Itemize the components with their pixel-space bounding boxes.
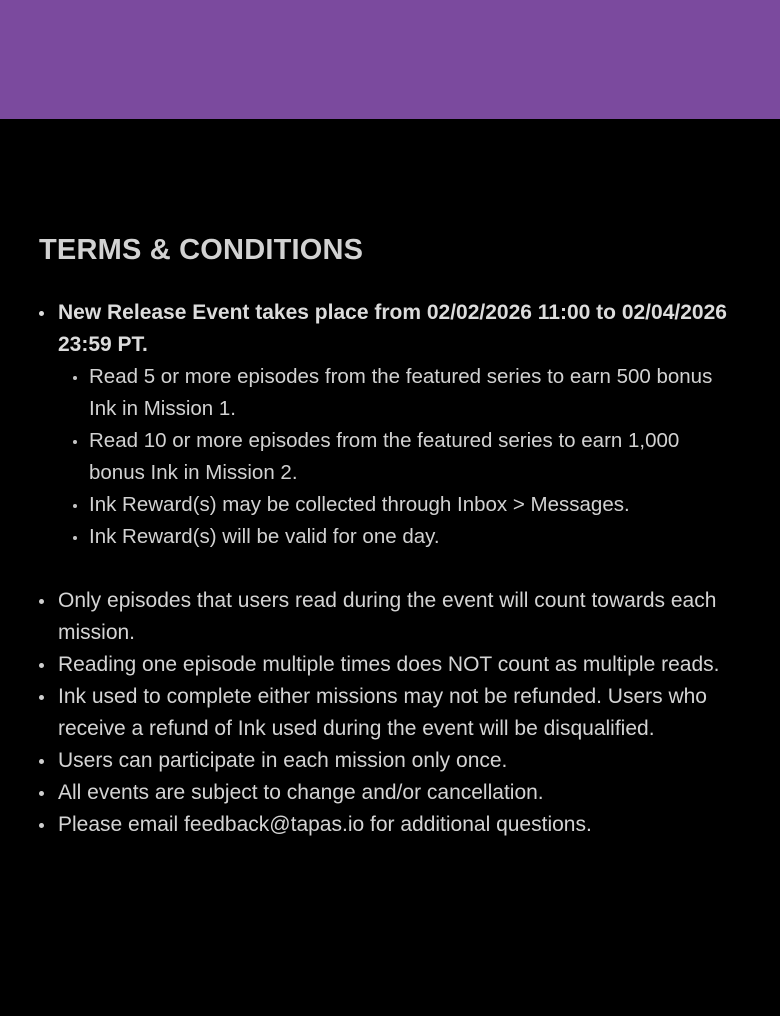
bullet-text: Users can participate in each mission on… [58,745,732,777]
bullet-dot-icon [39,791,44,796]
terms-bullet: New Release Event takes place from 02/02… [0,297,780,361]
terms-sub-bullet: Ink Reward(s) may be collected through I… [0,489,780,521]
terms-sub-bullet: Read 10 or more episodes from the featur… [0,425,780,489]
terms-bullet: Ink used to complete either missions may… [0,681,780,745]
bullet-text: Reading one episode multiple times does … [58,649,732,681]
bullet-text: Only episodes that users read during the… [58,585,732,649]
bullet-dot-icon [39,599,44,604]
bullet-dot-icon [39,759,44,764]
terms-sub-bullet: Ink Reward(s) will be valid for one day. [0,521,780,553]
bullet-text: New Release Event takes place from 02/02… [58,297,732,361]
bullet-text: Read 10 or more episodes from the featur… [89,425,740,489]
terms-bullet: All events are subject to change and/or … [0,777,780,809]
bullet-text: Ink Reward(s) will be valid for one day. [89,521,740,553]
terms-bullet: Reading one episode multiple times does … [0,649,780,681]
terms-list: New Release Event takes place from 02/02… [0,297,780,841]
bullet-dot-icon [39,663,44,668]
terms-bullet: Please email feedback@tapas.io for addit… [0,809,780,841]
bullet-text: Ink used to complete either missions may… [58,681,732,745]
list-group-separator [0,553,780,585]
bullet-dot-icon [39,823,44,828]
terms-sub-bullet: Read 5 or more episodes from the feature… [0,361,780,425]
bullet-dot-icon [73,440,77,444]
bullet-dot-icon [73,504,77,508]
bullet-dot-icon [39,695,44,700]
page-title: TERMS & CONDITIONS [39,236,363,265]
bullet-dot-icon [39,311,44,316]
top-purple-banner [0,0,780,119]
bullet-text: Ink Reward(s) may be collected through I… [89,489,740,521]
terms-bullet: Only episodes that users read during the… [0,585,780,649]
terms-bullet: Users can participate in each mission on… [0,745,780,777]
bullet-dot-icon [73,376,77,380]
bullet-dot-icon [73,536,77,540]
bullet-text: All events are subject to change and/or … [58,777,732,809]
bullet-text: Read 5 or more episodes from the feature… [89,361,740,425]
bullet-text: Please email feedback@tapas.io for addit… [58,809,732,841]
event-terms-page: TERMS & CONDITIONS New Release Event tak… [0,0,780,1016]
